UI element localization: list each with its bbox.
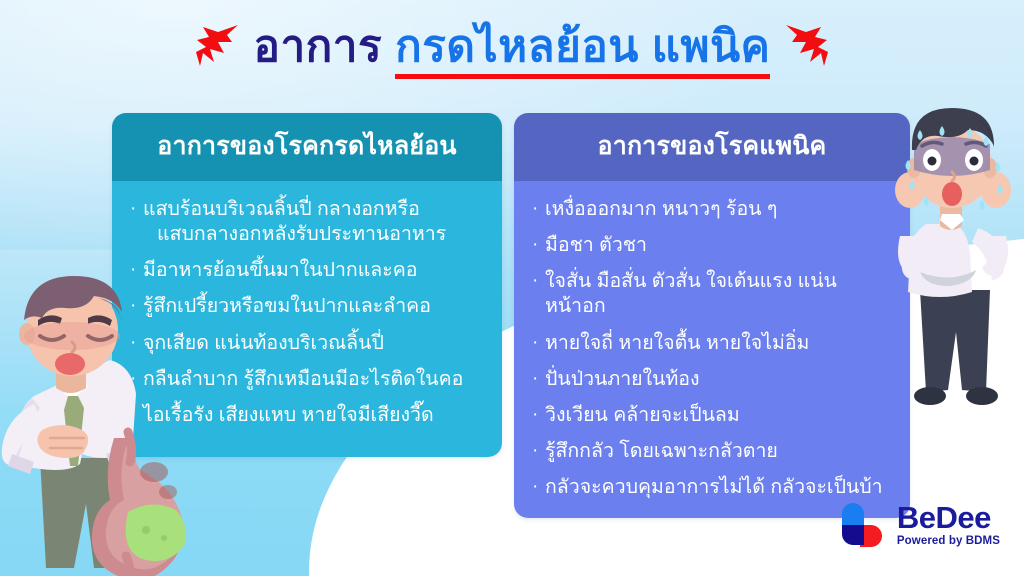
- man-with-panic-attack-illustration: [886, 104, 1024, 434]
- list-item: · เหงื่อออกมาก หนาวๆ ร้อน ๆ: [532, 197, 894, 222]
- list-item-label-line2: แสบกลางอกหลังรับประทานอาหาร: [143, 222, 486, 247]
- bullet-dot-icon: ·: [532, 331, 545, 356]
- list-item: · ปั่นป่วนภายในท้อง: [532, 367, 894, 392]
- list-item: · วิงเวียน คล้ายจะเป็นลม: [532, 403, 894, 428]
- list-item-label: แสบร้อนบริเวณลิ้นปี่ กลางอกหรือ: [143, 198, 420, 220]
- red-starburst-icon-right: [784, 22, 830, 76]
- bedee-heart-capsule-icon: [836, 500, 886, 550]
- bullet-dot-icon: ·: [532, 403, 545, 428]
- list-item-label: ใจสั่น มือสั่น ตัวสั่น ใจเต้นแรง แน่นหน้…: [545, 269, 894, 319]
- list-item: · มือชา ตัวชา: [532, 233, 894, 258]
- card-gerd-heading: อาการของโรคกรดไหลย้อน: [112, 113, 502, 181]
- bullet-dot-icon: ·: [130, 197, 143, 222]
- card-panic-list: · เหงื่อออกมาก หนาวๆ ร้อน ๆ · มือชา ตัวช…: [514, 181, 910, 518]
- bullet-dot-icon: ·: [532, 233, 545, 258]
- list-item-label: หายใจถี่ หายใจตื้น หายใจไม่อิ่ม: [545, 331, 894, 356]
- title-prefix: อาการ: [254, 23, 383, 71]
- card-panic-heading: อาการของโรคแพนิค: [514, 113, 910, 181]
- bullet-dot-icon: ·: [532, 439, 545, 464]
- title-highlight: กรดไหลย้อน แพนิค: [395, 23, 770, 75]
- title-text: อาการ กรดไหลย้อน แพนิค: [254, 23, 771, 75]
- list-item-label: มือชา ตัวชา: [545, 233, 894, 258]
- bedee-tagline: Powered by BDMS: [897, 536, 1000, 548]
- list-item-label: เหงื่อออกมาก หนาวๆ ร้อน ๆ: [545, 197, 894, 222]
- list-item-label: กลัวจะควบคุมอาการไม่ได้ กลัวจะเป็นบ้า: [545, 475, 894, 500]
- list-item: · หายใจถี่ หายใจตื้น หายใจไม่อิ่ม: [532, 331, 894, 356]
- list-item: · แสบร้อนบริเวณลิ้นปี่ กลางอกหรือ แสบกลา…: [130, 197, 486, 247]
- list-item-label: วิงเวียน คล้ายจะเป็นลม: [545, 403, 894, 428]
- bullet-dot-icon: ·: [532, 367, 545, 392]
- bedee-logo-text: BeDee Powered by BDMS: [897, 502, 1000, 548]
- red-starburst-icon-left: [194, 22, 240, 76]
- list-item: · กลัวจะควบคุมอาการไม่ได้ กลัวจะเป็นบ้า: [532, 475, 894, 500]
- list-item-label: รู้สึกกลัว โดยเฉพาะกลัวตาย: [545, 439, 894, 464]
- bedee-logo[interactable]: BeDee Powered by BDMS: [836, 500, 1000, 550]
- list-item: · รู้สึกกลัว โดยเฉพาะกลัวตาย: [532, 439, 894, 464]
- list-item: · ใจสั่น มือสั่น ตัวสั่น ใจเต้นแรง แน่นห…: [532, 269, 894, 319]
- infographic-canvas: อาการ กรดไหลย้อน แพนิค อาการของโรคกรดไหล…: [0, 0, 1024, 576]
- card-panic-symptoms: อาการของโรคแพนิค · เหงื่อออกมาก หนาวๆ ร้…: [514, 113, 910, 518]
- bullet-dot-icon: ·: [532, 197, 545, 222]
- page-title: อาการ กรดไหลย้อน แพนิค: [0, 22, 1024, 76]
- man-with-heartburn-illustration: [0, 268, 224, 576]
- bedee-name: BeDee: [897, 502, 1000, 533]
- list-item-label: ปั่นป่วนภายในท้อง: [545, 367, 894, 392]
- bullet-dot-icon: ·: [532, 475, 545, 500]
- bullet-dot-icon: ·: [532, 269, 545, 294]
